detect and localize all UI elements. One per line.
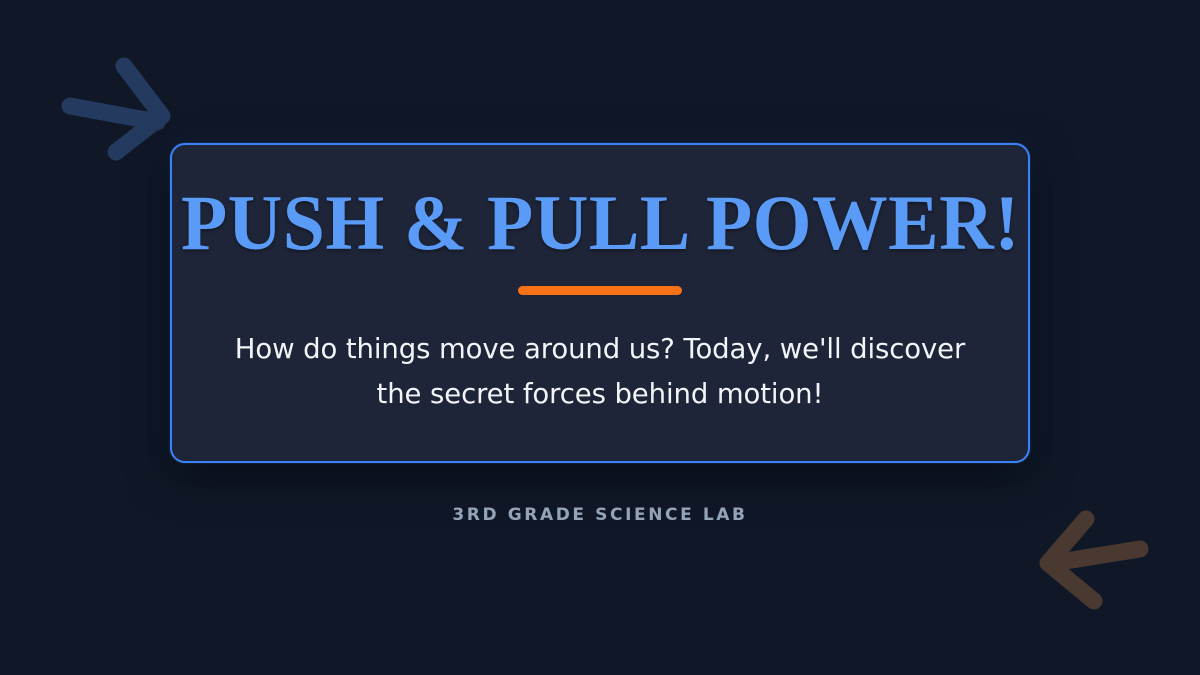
page-title: PUSH & PULL POWER! (181, 185, 1020, 261)
title-divider (518, 286, 682, 295)
slide-subtitle: How do things move around us? Today, we'… (220, 327, 980, 416)
arrow-right-icon (52, 44, 182, 174)
presentation-slide: PUSH & PULL POWER! How do things move ar… (0, 0, 1200, 675)
title-card: PUSH & PULL POWER! How do things move ar… (170, 143, 1030, 463)
slide-footer-label: 3RD GRADE SCIENCE LAB (0, 505, 1200, 525)
